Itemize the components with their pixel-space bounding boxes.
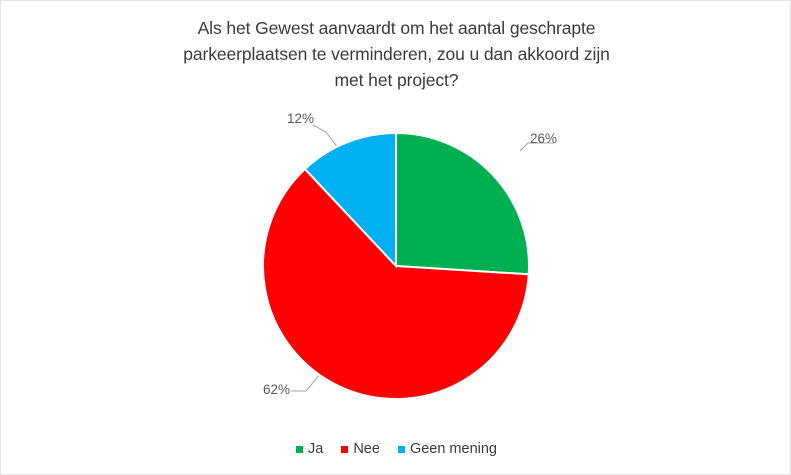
legend-label-ja: Ja [308, 441, 323, 457]
data-label-ja: 26% [530, 131, 557, 146]
pie-slices [263, 133, 529, 399]
pie-chart-frame: Als het Gewest aanvaardt om het aantal g… [0, 0, 791, 475]
legend-swatch-icon-ja [296, 446, 303, 453]
legend-item-ja[interactable]: Ja [296, 441, 323, 457]
pie-plot-area [1, 1, 791, 475]
legend-item-nee[interactable]: Nee [341, 441, 380, 457]
chart-legend: Ja Nee Geen mening [1, 441, 791, 457]
legend-swatch-icon-nee [341, 446, 348, 453]
data-label-nee: 62% [263, 382, 290, 397]
data-label-geen-mening: 12% [287, 111, 314, 126]
legend-swatch-icon-geen-mening [398, 446, 405, 453]
leader-line-nee [291, 373, 321, 391]
legend-item-geen-mening[interactable]: Geen mening [398, 441, 497, 457]
pie-slice-ja[interactable] [396, 133, 529, 274]
legend-label-nee: Nee [353, 441, 380, 457]
legend-label-geen-mening: Geen mening [410, 441, 497, 457]
